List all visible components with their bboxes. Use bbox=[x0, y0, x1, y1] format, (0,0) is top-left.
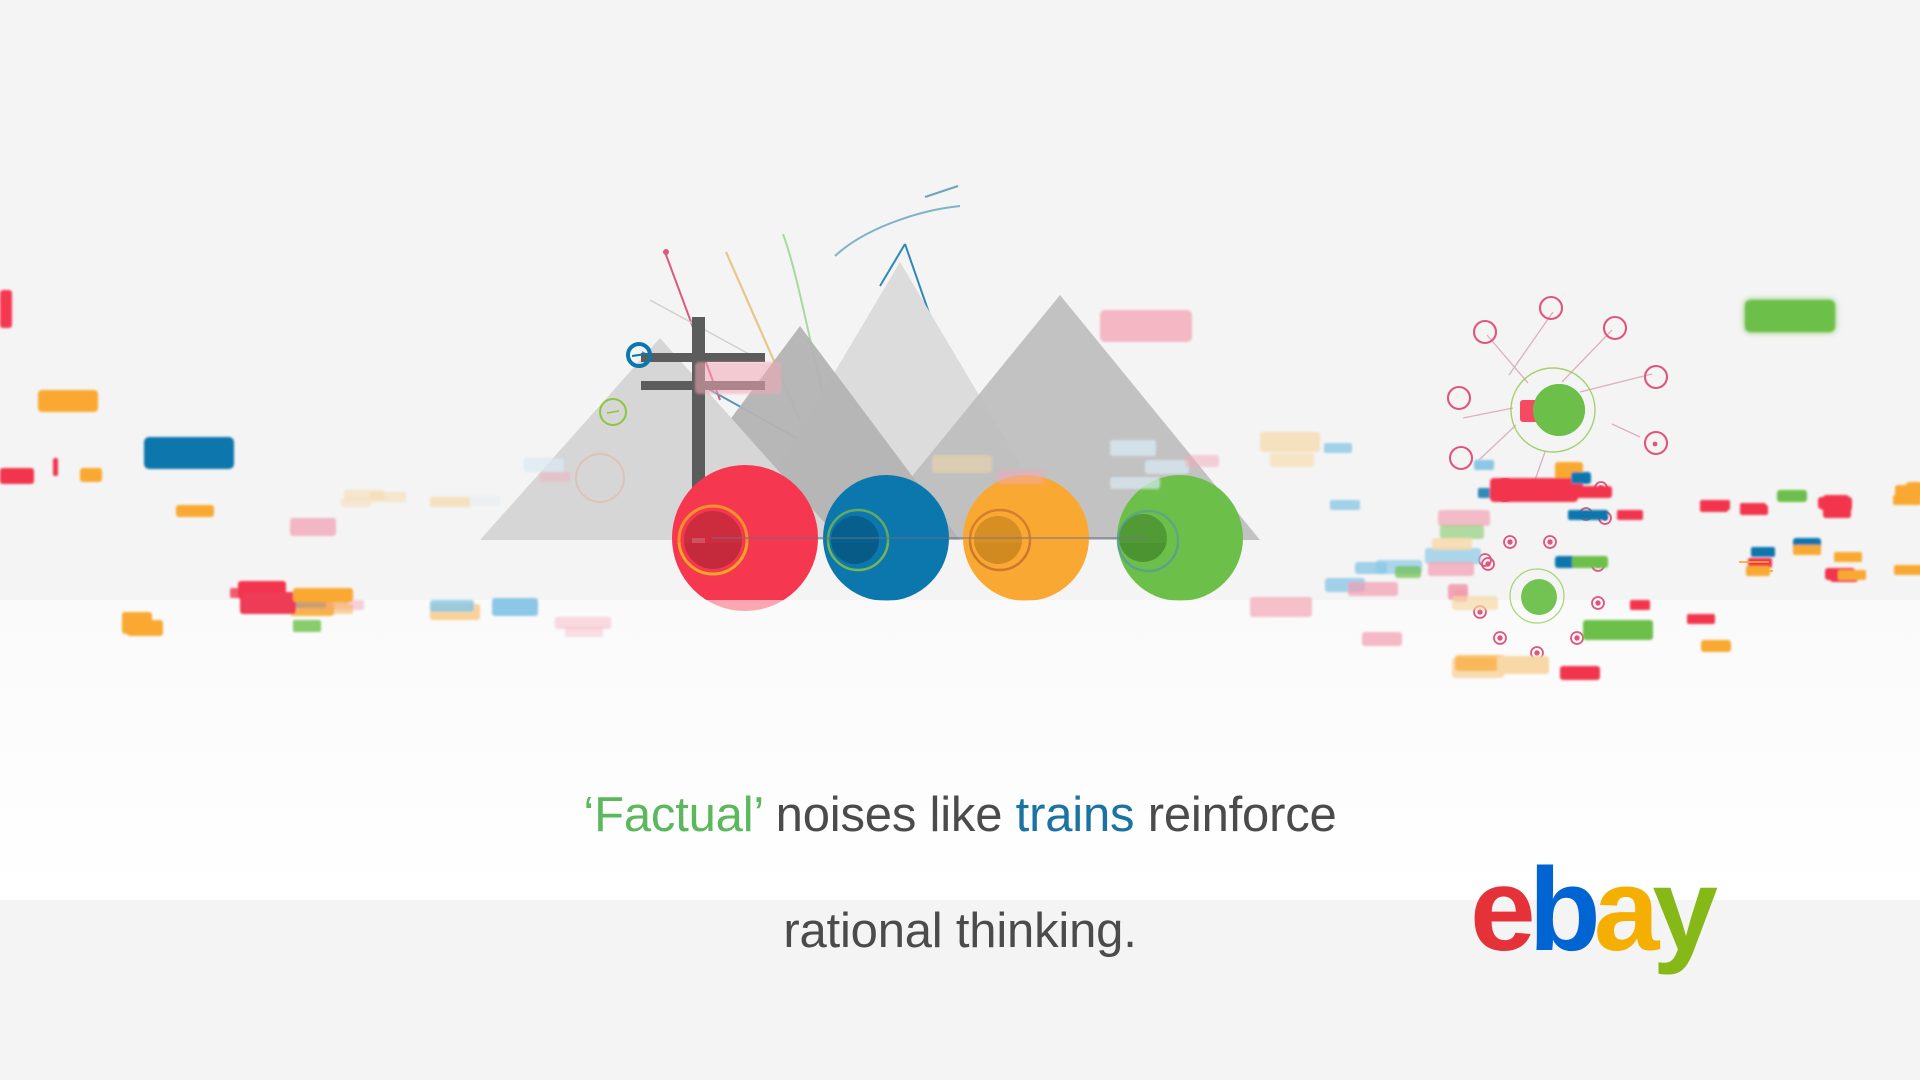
caption-segment-4: reinforce bbox=[1134, 788, 1336, 842]
caption-segment-2: noises like bbox=[762, 788, 1015, 842]
ebay-letter-y: y bbox=[1652, 844, 1711, 976]
caption-highlight-green: ‘Factual’ bbox=[583, 788, 762, 842]
ebay-letter-e: e bbox=[1470, 844, 1529, 976]
slide-canvas: ‘Factual’ noises like trains reinforce r… bbox=[0, 0, 1920, 1080]
ebay-letter-b: b bbox=[1529, 844, 1594, 976]
caption-highlight-blue: trains bbox=[1016, 788, 1135, 842]
ebay-logo[interactable]: ebay bbox=[1470, 855, 1770, 965]
ebay-wordmark: ebay bbox=[1470, 855, 1770, 965]
caption-line-2: rational thinking. bbox=[783, 904, 1136, 958]
ebay-letter-a: a bbox=[1594, 844, 1653, 976]
